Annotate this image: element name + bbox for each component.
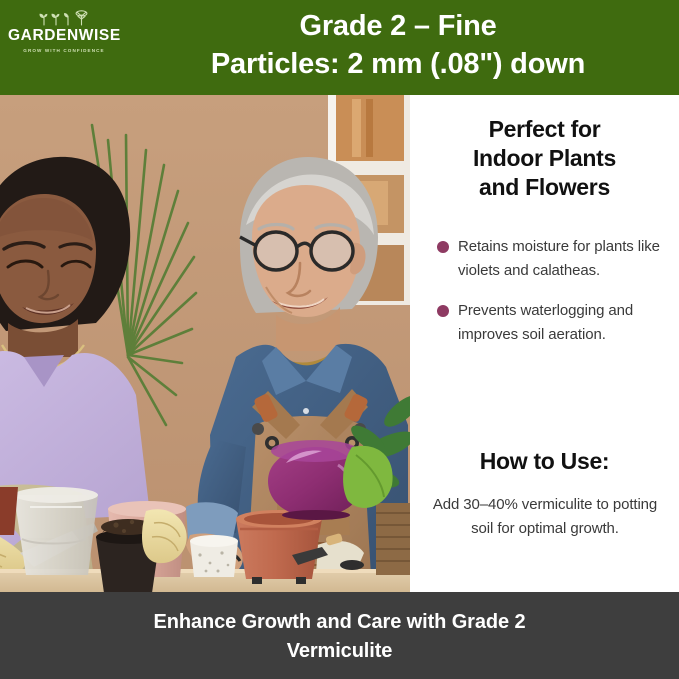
brand-wordmark: GARDENWISE — [8, 27, 120, 44]
how-to-use-body: Add 30–40% vermiculite to potting soil f… — [428, 493, 662, 540]
product-infographic: GARDENWISE GROW WITH CONFIDENCE Grade 2 … — [0, 0, 679, 679]
gardening-photo — [0, 95, 410, 592]
footer-tagline-line-2: Vermiculite — [50, 637, 629, 666]
panel-heading-line-1: Perfect for — [418, 115, 671, 144]
benefit-list: Retains moisture for plants like violets… — [436, 235, 674, 363]
brand-tagline: GROW WITH CONFIDENCE — [8, 46, 120, 55]
footer-tagline-line-1: Enhance Growth and Care with Grade 2 — [50, 608, 629, 637]
header-title-line-1: Grade 2 – Fine — [122, 7, 674, 45]
brand-logo: GARDENWISE GROW WITH CONFIDENCE — [8, 10, 120, 55]
panel-heading-line-2: Indoor Plants — [418, 144, 671, 173]
footer-tagline: Enhance Growth and Care with Grade 2 Ver… — [50, 608, 629, 666]
sprout-seedlings-icon — [36, 10, 92, 26]
panel-heading: Perfect for Indoor Plants and Flowers — [418, 115, 671, 202]
header-title: Grade 2 – Fine Particles: 2 mm (.08") do… — [122, 7, 674, 83]
info-panel: Perfect for Indoor Plants and Flowers Re… — [410, 95, 679, 592]
benefit-text: Prevents waterlogging and improves soil … — [458, 302, 633, 343]
header-banner: GARDENWISE GROW WITH CONFIDENCE Grade 2 … — [0, 0, 679, 95]
footer-banner: Enhance Growth and Care with Grade 2 Ver… — [0, 592, 679, 679]
how-to-use-heading: How to Use: — [418, 447, 671, 476]
panel-heading-line-3: and Flowers — [418, 173, 671, 202]
benefit-text: Retains moisture for plants like violets… — [458, 238, 660, 279]
bullet-dot-icon — [437, 305, 449, 317]
bullet-dot-icon — [437, 241, 449, 253]
header-title-line-2: Particles: 2 mm (.08") down — [122, 45, 674, 83]
list-item: Retains moisture for plants like violets… — [436, 235, 674, 282]
list-item: Prevents waterlogging and improves soil … — [436, 299, 674, 346]
gardening-photo-illustration — [0, 95, 410, 592]
